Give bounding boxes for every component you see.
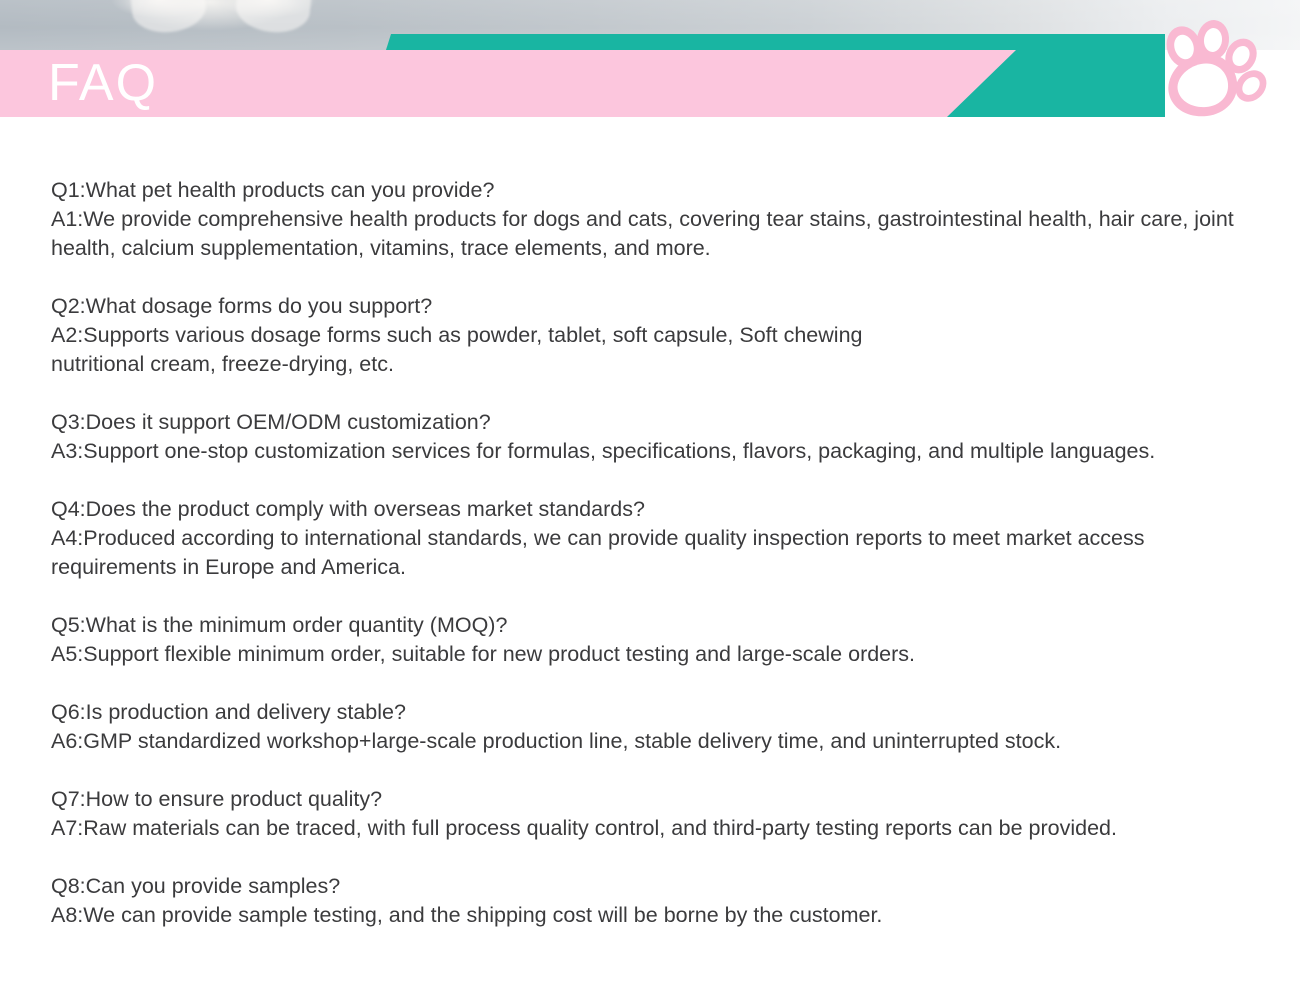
faq-answer: A4:Produced according to international s… bbox=[51, 524, 1266, 582]
faq-question: Q2:What dosage forms do you support? bbox=[51, 292, 1266, 321]
faq-question: Q6:Is production and delivery stable? bbox=[51, 698, 1266, 727]
faq-question: Q4:Does the product comply with overseas… bbox=[51, 495, 1266, 524]
header-banner: FAQ bbox=[0, 0, 1300, 140]
faq-page: FAQ Q1:What p bbox=[0, 0, 1300, 987]
faq-item: Q8:Can you provide samples? A8:We can pr… bbox=[51, 872, 1266, 930]
faq-item: Q7:How to ensure product quality? A7:Raw… bbox=[51, 785, 1266, 843]
paw-print-icon bbox=[1155, 18, 1267, 130]
faq-answer: A7:Raw materials can be traced, with ful… bbox=[51, 814, 1266, 843]
faq-answer: A1:We provide comprehensive health produ… bbox=[51, 205, 1266, 263]
faq-question: Q8:Can you provide samples? bbox=[51, 872, 1266, 901]
faq-question: Q3:Does it support OEM/ODM customization… bbox=[51, 408, 1266, 437]
faq-list: Q1:What pet health products can you prov… bbox=[51, 176, 1266, 930]
faq-answer: A3:Support one-stop customization servic… bbox=[51, 437, 1266, 466]
faq-item: Q4:Does the product comply with overseas… bbox=[51, 495, 1266, 582]
faq-item: Q5:What is the minimum order quantity (M… bbox=[51, 611, 1266, 669]
faq-item: Q3:Does it support OEM/ODM customization… bbox=[51, 408, 1266, 466]
faq-item: Q2:What dosage forms do you support? A2:… bbox=[51, 292, 1266, 379]
faq-question: Q5:What is the minimum order quantity (M… bbox=[51, 611, 1266, 640]
faq-item: Q1:What pet health products can you prov… bbox=[51, 176, 1266, 263]
faq-answer: A5:Support flexible minimum order, suita… bbox=[51, 640, 1266, 669]
faq-answer: A8:We can provide sample testing, and th… bbox=[51, 901, 1266, 930]
page-title: FAQ bbox=[48, 48, 158, 118]
faq-question: Q1:What pet health products can you prov… bbox=[51, 176, 1266, 205]
faq-answer: A2:Supports various dosage forms such as… bbox=[51, 321, 1266, 379]
faq-question: Q7:How to ensure product quality? bbox=[51, 785, 1266, 814]
faq-item: Q6:Is production and delivery stable? A6… bbox=[51, 698, 1266, 756]
faq-answer: A6:GMP standardized workshop+large-scale… bbox=[51, 727, 1266, 756]
